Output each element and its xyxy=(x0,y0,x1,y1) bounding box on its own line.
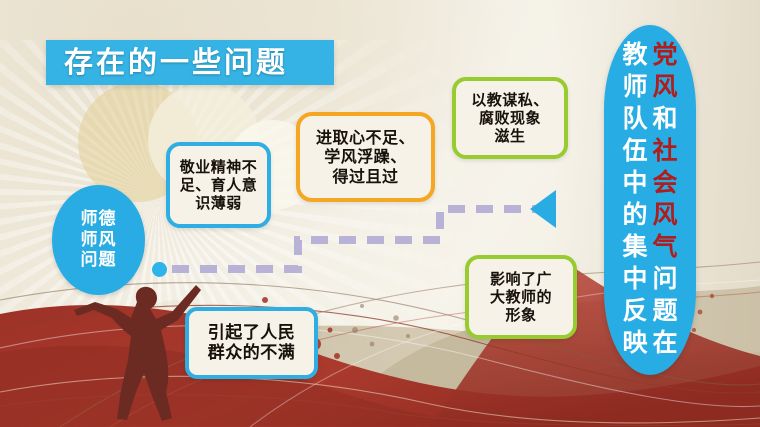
node-label: 敬业精神不 足、育人意 识薄弱 xyxy=(180,158,258,212)
vertical-char: 风 xyxy=(652,71,677,103)
vertical-char: 党 xyxy=(652,39,677,71)
node-label: 影响了广 大教师的 形象 xyxy=(490,270,552,324)
node-yinqi-buman[interactable]: 引起了人民 群众的不满 xyxy=(185,307,318,379)
node-label: 以教谋私、 腐败现象 滋生 xyxy=(471,91,549,145)
node-yingxiang-xingxiang[interactable]: 影响了广 大教师的 形象 xyxy=(465,255,577,339)
page-title-text: 存在的一些问题 xyxy=(46,40,334,85)
hub-label: 师德 师风 问题 xyxy=(81,209,117,271)
vertical-char: 师 xyxy=(622,71,647,103)
node-label: 引起了人民 群众的不满 xyxy=(208,323,296,364)
connector-start-dot xyxy=(152,262,167,277)
node-yijiao-mousi[interactable]: 以教谋私、 腐败现象 滋生 xyxy=(452,77,568,159)
vertical-char: 和 xyxy=(652,103,677,135)
page-title: 存在的一些问题 xyxy=(46,40,334,85)
vertical-char: 的 xyxy=(622,199,647,231)
vertical-summary-panel[interactable]: 党风和社会风气问题在 教师队伍中的集中反映 xyxy=(604,25,696,375)
vertical-char: 映 xyxy=(622,327,647,359)
vertical-char: 气 xyxy=(652,231,677,263)
vertical-char: 集 xyxy=(622,231,647,263)
vertical-char: 中 xyxy=(622,167,647,199)
vertical-char: 队 xyxy=(622,103,647,135)
vertical-char: 风 xyxy=(652,199,677,231)
vertical-char: 在 xyxy=(652,327,677,359)
vertical-char: 伍 xyxy=(622,135,647,167)
vertical-char: 中 xyxy=(622,263,647,295)
node-jingye-jingshen[interactable]: 敬业精神不 足、育人意 识薄弱 xyxy=(166,142,271,228)
slide-canvas: 存在的一些问题 师德 师风 问题 敬业精神不 足、育人意 识薄弱 进取心不足、 … xyxy=(0,0,760,427)
vertical-text-column-right: 党风和社会风气问题在 xyxy=(650,39,680,359)
vertical-char: 问 xyxy=(652,263,677,295)
node-label: 进取心不足、 学风浮躁、 得过且过 xyxy=(316,128,415,186)
vertical-char: 社 xyxy=(652,135,677,167)
vertical-char: 题 xyxy=(652,295,677,327)
vertical-char: 会 xyxy=(652,167,677,199)
hub-node-shide-shifeng[interactable]: 师德 师风 问题 xyxy=(52,185,145,295)
vertical-char: 反 xyxy=(622,295,647,327)
node-jinquxin-buzu[interactable]: 进取心不足、 学风浮躁、 得过且过 xyxy=(296,112,435,202)
vertical-text-column-left: 教师队伍中的集中反映 xyxy=(620,39,650,359)
vertical-char: 教 xyxy=(622,39,647,71)
